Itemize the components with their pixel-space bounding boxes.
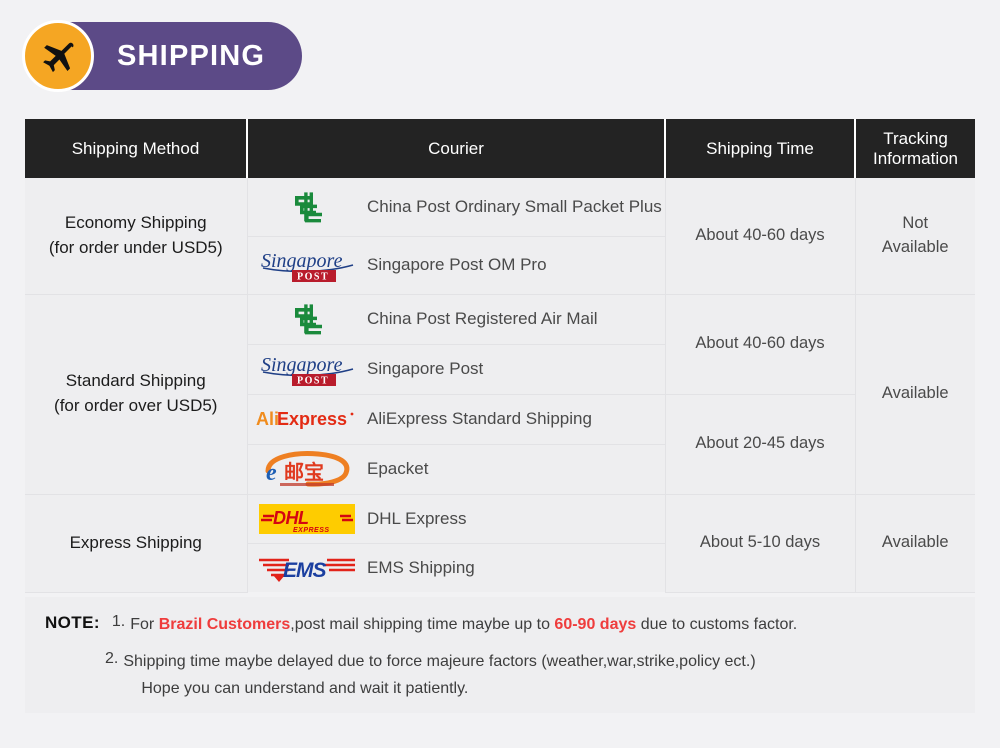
note-2-line1: Shipping time maybe delayed due to force… xyxy=(123,653,755,670)
method-line2: (for order under USD5) xyxy=(25,236,247,261)
courier-name: DHL Express xyxy=(367,494,665,543)
courier-name: Epacket xyxy=(367,444,665,494)
courier-name: EMS Shipping xyxy=(367,543,665,592)
china-post-logo-mark xyxy=(287,190,327,224)
method-cell-economy: Economy Shipping (for order under USD5) xyxy=(25,178,247,294)
header-courier: Courier xyxy=(247,119,665,178)
svg-text:Express: Express xyxy=(277,409,347,429)
dhl-logo-mark: DHL EXPRESS xyxy=(259,504,355,534)
note-2-line2: Hope you can understand and wait it pati… xyxy=(141,677,755,702)
svg-text:POST: POST xyxy=(297,376,329,387)
aliexpress-logo-mark: Ali Express xyxy=(255,407,359,431)
ems-logo-mark: EMS xyxy=(257,553,357,583)
note-1-part2: ,post mail shipping time maybe up to xyxy=(290,616,554,633)
header-tracking-information: Tracking Information xyxy=(855,119,975,178)
svg-text:邮宝: 邮宝 xyxy=(284,460,324,484)
courier-name: Singapore Post OM Pro xyxy=(367,236,665,294)
svg-text:Singapore: Singapore xyxy=(261,354,343,376)
shipping-time-cell: About 40-60 days xyxy=(665,294,855,394)
svg-text:POST: POST xyxy=(297,272,329,283)
china-post-logo xyxy=(247,294,367,344)
note-label: NOTE: xyxy=(45,613,100,633)
shipping-time-cell: About 40-60 days xyxy=(665,178,855,294)
svg-text:EMS: EMS xyxy=(283,559,327,582)
method-line1: Standard Shipping xyxy=(25,369,247,394)
aliexpress-logo: Ali Express xyxy=(247,394,367,444)
dhl-logo: DHL EXPRESS xyxy=(247,494,367,543)
singapore-post-logo-mark: Singapore POST xyxy=(259,350,355,388)
badge-title-text: SHIPPING xyxy=(117,40,265,73)
china-post-logo-mark xyxy=(287,302,327,336)
epacket-logo: e 邮宝 xyxy=(247,444,367,494)
tracking-cell-available: Available xyxy=(855,294,975,494)
table-body: Economy Shipping (for order under USD5) xyxy=(25,178,975,592)
svg-text:Singapore: Singapore xyxy=(261,250,343,272)
header-shipping-time: Shipping Time xyxy=(665,119,855,178)
svg-text:EXPRESS: EXPRESS xyxy=(293,527,330,534)
header-shipping-method: Shipping Method xyxy=(25,119,247,178)
shipping-time-cell: About 5-10 days xyxy=(665,494,855,592)
shipping-info-table: Shipping Method Courier Shipping Time Tr… xyxy=(25,119,975,593)
svg-text:Ali: Ali xyxy=(256,409,279,429)
note-1-part3: due to customs factor. xyxy=(636,616,797,633)
courier-name: China Post Ordinary Small Packet Plus xyxy=(367,178,665,236)
method-line1: Express Shipping xyxy=(25,531,247,556)
epacket-logo-mark: e 邮宝 xyxy=(260,449,354,489)
china-post-logo xyxy=(247,178,367,236)
note-1-part1: For xyxy=(130,616,158,633)
note-block: NOTE: 1. For Brazil Customers,post mail … xyxy=(25,597,975,713)
note-1-highlight-days: 60-90 days xyxy=(554,616,636,633)
singapore-post-logo: Singapore POST xyxy=(247,236,367,294)
note-1-highlight-brazil: Brazil Customers xyxy=(159,616,291,633)
table-row: Economy Shipping (for order under USD5) xyxy=(25,178,975,236)
method-cell-express: Express Shipping xyxy=(25,494,247,592)
courier-name: AliExpress Standard Shipping xyxy=(367,394,665,444)
note-item-1: NOTE: 1. For Brazil Customers,post mail … xyxy=(45,613,957,638)
shipping-title-badge: SHIPPING xyxy=(25,22,302,90)
ems-logo: EMS xyxy=(247,543,367,592)
tracking-line2: Available xyxy=(856,236,976,260)
svg-text:e: e xyxy=(266,460,277,486)
tracking-cell-available: Available xyxy=(855,494,975,592)
singapore-post-logo: Singapore POST xyxy=(247,344,367,394)
table-header: Shipping Method Courier Shipping Time Tr… xyxy=(25,119,975,178)
airplane-icon xyxy=(22,20,94,92)
courier-name: Singapore Post xyxy=(367,344,665,394)
note-1-number: 1. xyxy=(112,613,125,631)
header-tracking-line2: Information xyxy=(873,149,958,168)
shipping-time-cell: About 20-45 days xyxy=(665,394,855,494)
note-item-2: 2. Shipping time maybe delayed due to fo… xyxy=(105,650,957,702)
method-cell-standard: Standard Shipping (for order over USD5) xyxy=(25,294,247,494)
singapore-post-logo-mark: Singapore POST xyxy=(259,246,355,284)
table-row: Express Shipping DHL EXPRESS DHL Express… xyxy=(25,494,975,543)
method-line2: (for order over USD5) xyxy=(25,394,247,419)
header-row: Shipping Method Courier Shipping Time Tr… xyxy=(25,119,975,178)
table-row: Standard Shipping (for order over USD5) xyxy=(25,294,975,344)
tracking-cell-not-available: Not Available xyxy=(855,178,975,294)
note-1-text: For Brazil Customers,post mail shipping … xyxy=(130,613,797,638)
method-line1: Economy Shipping xyxy=(25,211,247,236)
note-2-number: 2. xyxy=(105,650,118,668)
svg-text:DHL: DHL xyxy=(273,508,309,528)
header-tracking-line1: Tracking xyxy=(883,129,948,148)
note-2-text: Shipping time maybe delayed due to force… xyxy=(123,650,755,702)
courier-name: China Post Registered Air Mail xyxy=(367,294,665,344)
tracking-line1: Not xyxy=(856,212,976,236)
